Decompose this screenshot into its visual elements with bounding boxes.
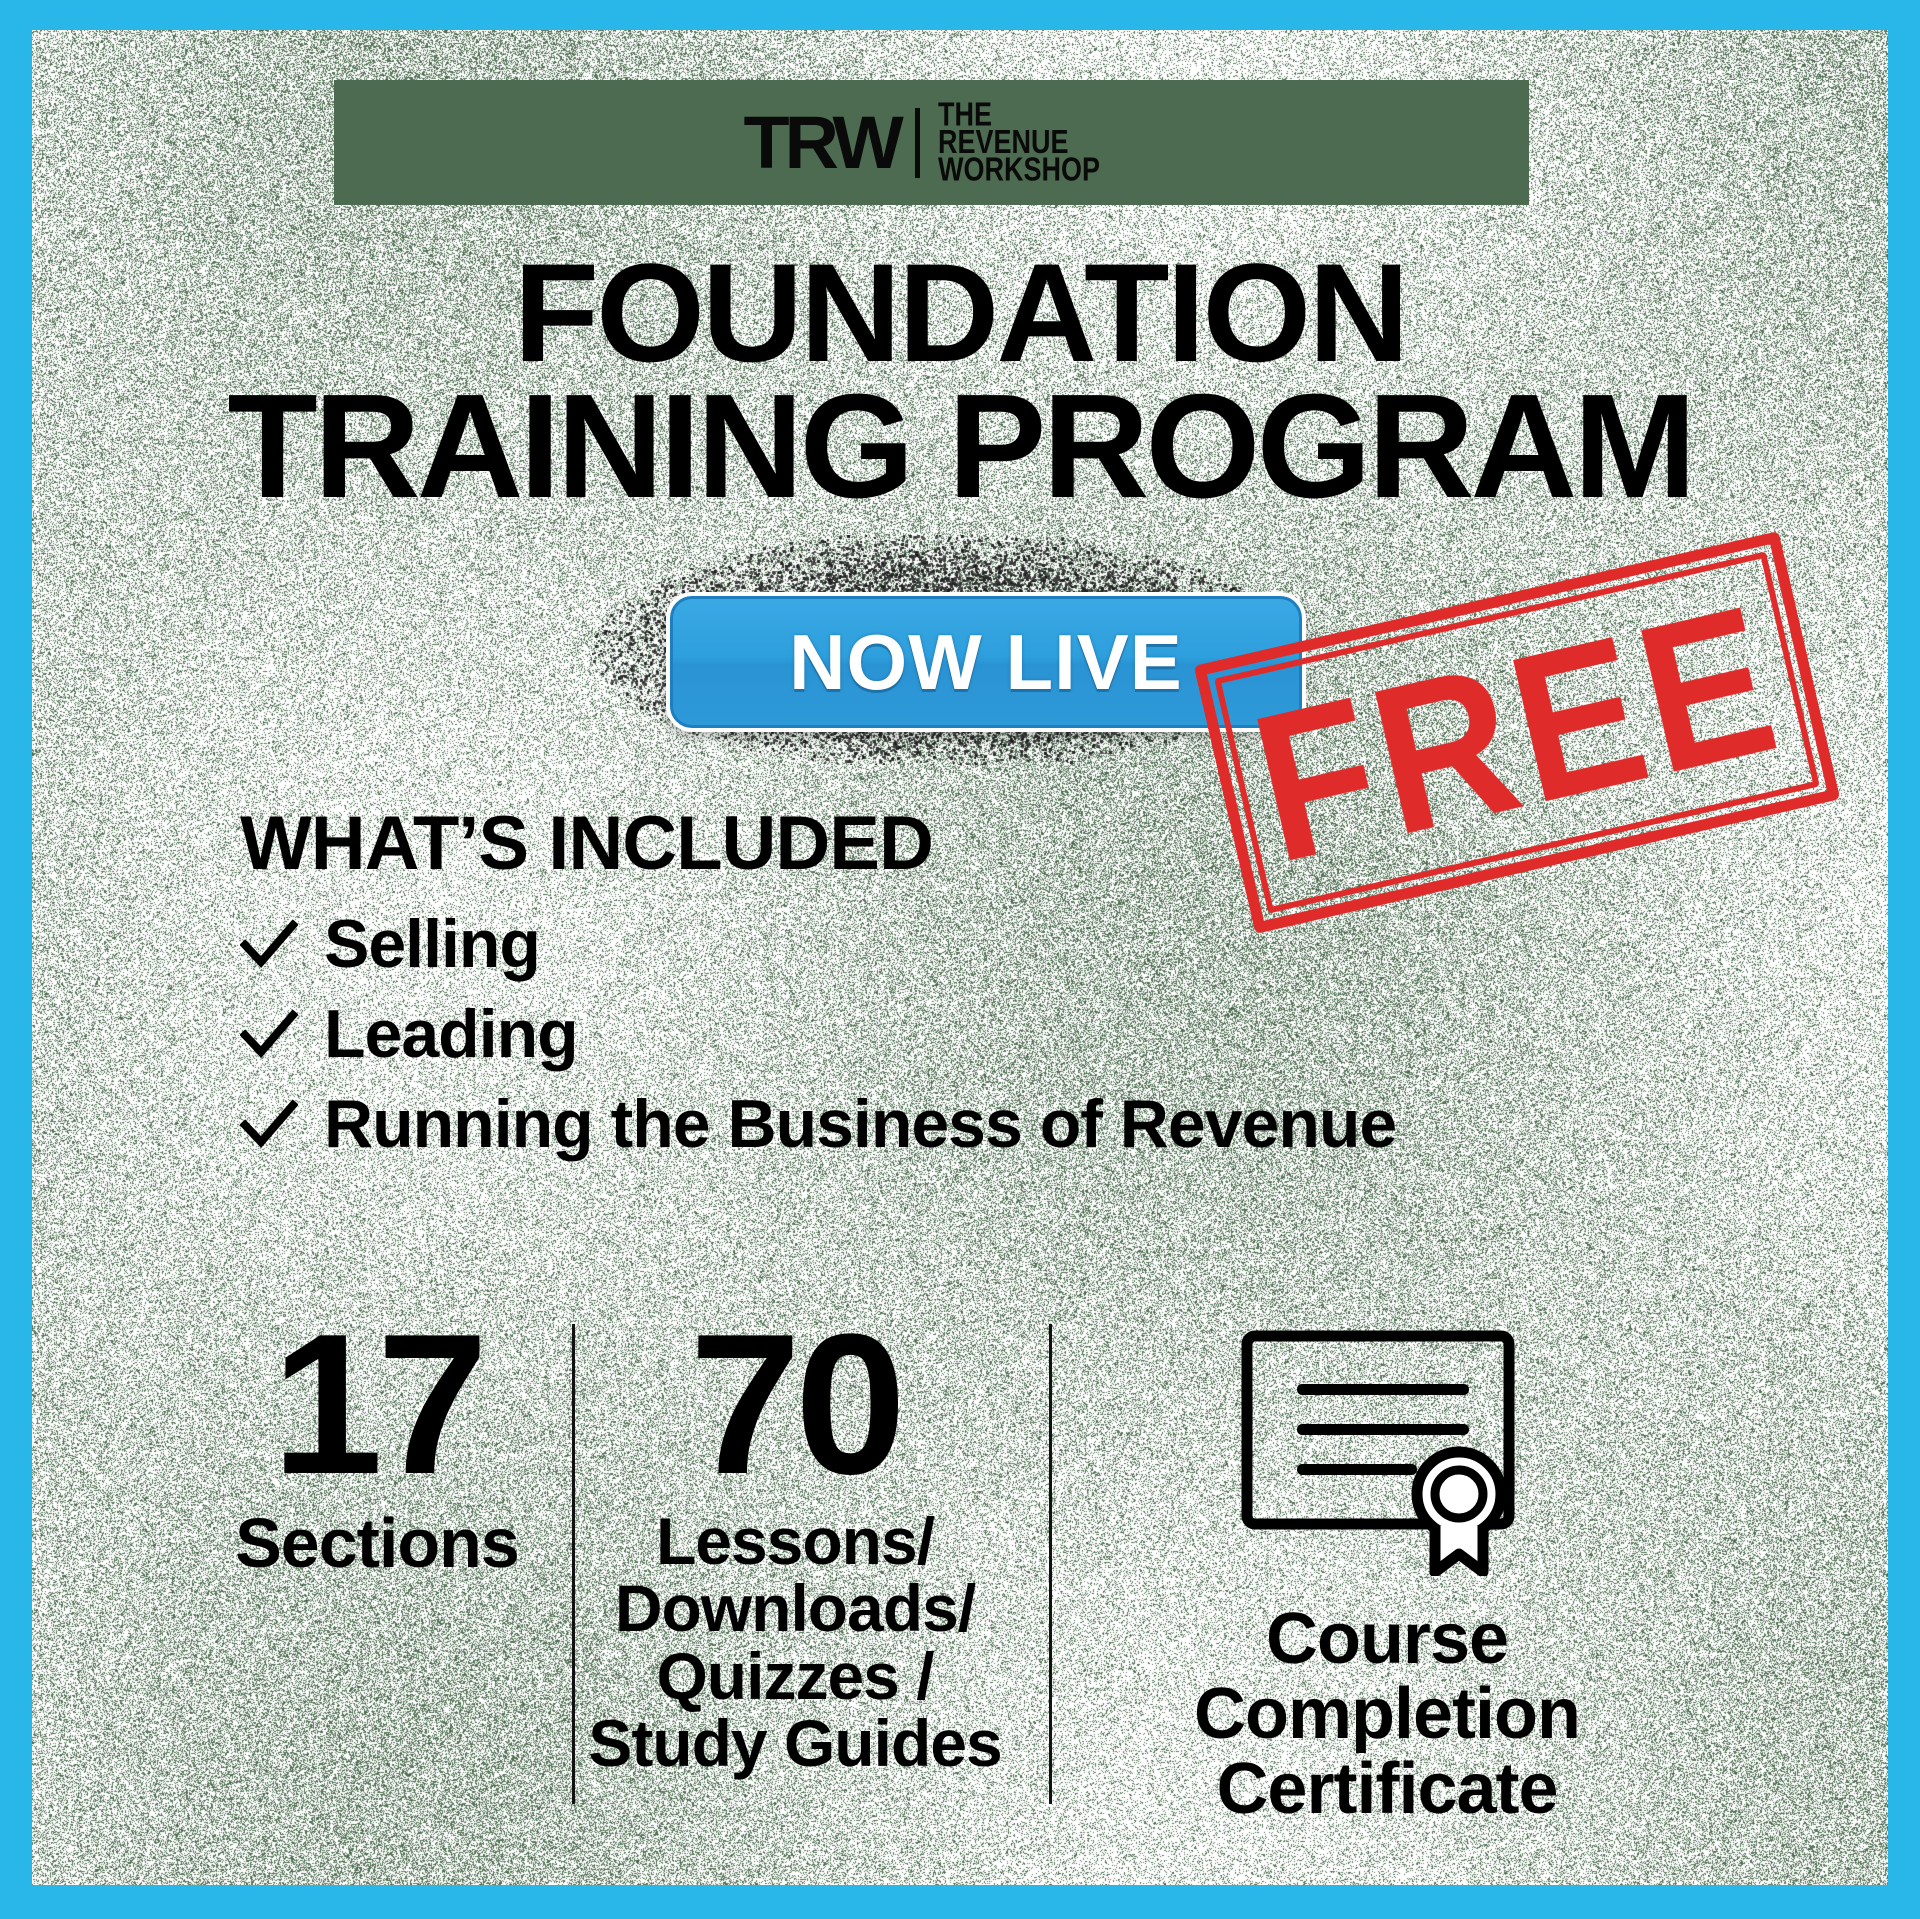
stat-lessons-label-line-2: Downloads/ [588, 1575, 1001, 1642]
page-title-line-2: TRAINING PROGRAM [32, 378, 1888, 516]
stat-certificate-label-line-1: Course [1194, 1602, 1580, 1677]
brand-tagline: THE REVENUE WORKSHOP [938, 101, 1100, 184]
stat-lessons: 70 Lessons/ Downloads/ Quizzes / Study G… [575, 1320, 1015, 1777]
brand-tagline-line-3: WORKSHOP [938, 156, 1100, 184]
list-item: Selling [240, 910, 1396, 978]
included-heading: WHAT’S INCLUDED [240, 800, 933, 887]
list-item-label: Selling [324, 910, 540, 978]
stats-divider-2 [1049, 1324, 1052, 1804]
stat-lessons-label-line-1: Lessons/ [588, 1508, 1001, 1575]
stat-lessons-label-line-3: Quizzes / [588, 1643, 1001, 1710]
page-title-line-1: FOUNDATION [32, 248, 1888, 378]
list-item-label: Running the Business of Revenue [324, 1090, 1396, 1158]
poster-canvas: TRW THE REVENUE WORKSHOP FOUNDATION TRAI… [32, 30, 1888, 1885]
check-icon [240, 915, 298, 973]
brand-logo: TRW THE REVENUE WORKSHOP [745, 105, 1118, 181]
free-stamp-label: FREE [1190, 515, 1844, 950]
list-item-label: Leading [324, 1000, 578, 1068]
stat-lessons-label: Lessons/ Downloads/ Quizzes / Study Guid… [588, 1508, 1001, 1777]
stat-certificate: Course Completion Certificate [1122, 1320, 1652, 1827]
promo-poster: TRW THE REVENUE WORKSHOP FOUNDATION TRAI… [0, 0, 1920, 1919]
stat-certificate-label-line-3: Certificate [1194, 1752, 1580, 1827]
now-live-label: NOW LIVE [789, 617, 1183, 708]
stat-lessons-number: 70 [690, 1320, 900, 1490]
logo-divider [915, 108, 920, 178]
stat-sections-number: 17 [272, 1320, 482, 1490]
stat-certificate-label: Course Completion Certificate [1194, 1602, 1580, 1827]
brand-logo-bar: TRW THE REVENUE WORKSHOP [334, 80, 1529, 205]
list-item: Running the Business of Revenue [240, 1090, 1396, 1158]
page-title: FOUNDATION TRAINING PROGRAM [32, 248, 1888, 516]
stats-row: 17 Sections 70 Lessons/ Downloads/ Quizz… [182, 1320, 1828, 1840]
trw-wordmark: TRW [743, 106, 898, 180]
free-stamp: FREE [1194, 531, 1840, 934]
stat-certificate-label-line-2: Completion [1194, 1677, 1580, 1752]
stat-sections: 17 Sections [182, 1320, 572, 1579]
stat-sections-label: Sections [235, 1508, 519, 1579]
included-list: Selling Leading Running the Business of … [240, 910, 1396, 1158]
certificate-icon [1237, 1326, 1537, 1576]
stat-lessons-label-line-4: Study Guides [588, 1710, 1001, 1777]
check-icon [240, 1005, 298, 1063]
check-icon [240, 1095, 298, 1153]
list-item: Leading [240, 1000, 1396, 1068]
